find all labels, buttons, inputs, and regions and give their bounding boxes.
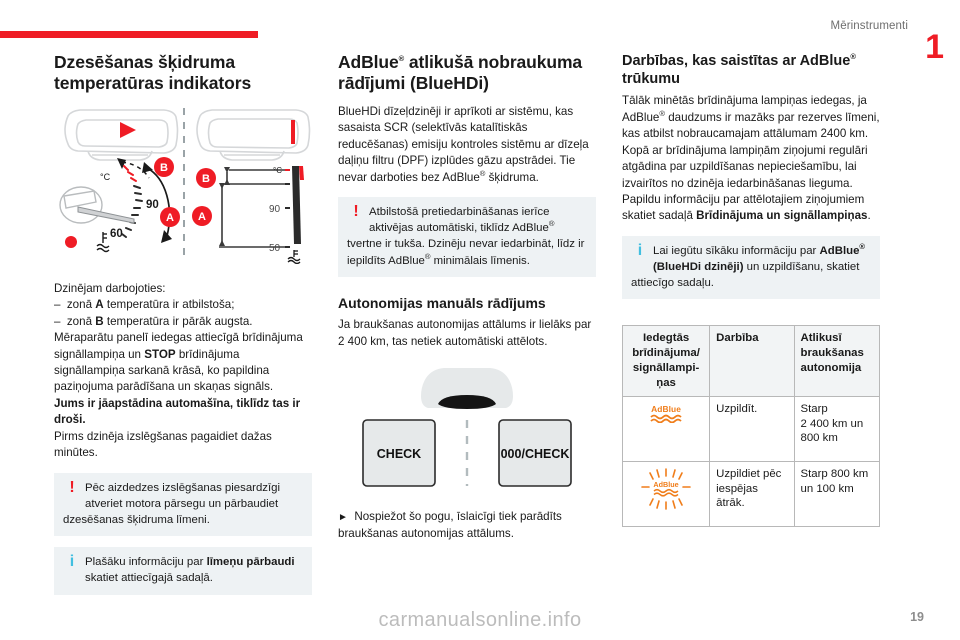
bluehdi-description: BlueHDi dīzeļdzinēji ir aprīkoti ar sist… — [338, 104, 596, 186]
table-cell-action: Uzpildīt. — [710, 396, 794, 461]
svg-text:90: 90 — [146, 199, 159, 211]
svg-text:°C: °C — [273, 166, 282, 175]
wait-minutes-paragraph: Pirms dzinēja izslēgšanas pagaidiet daža… — [54, 429, 312, 462]
svg-text:50: 50 — [269, 243, 281, 254]
table-row: AdBlue Uzpildiet pēc iespējas ātrāk. Sta… — [623, 461, 880, 526]
svg-text:B: B — [202, 173, 210, 185]
svg-text:A: A — [198, 211, 206, 223]
adblue-reserve-paragraph: Tālāk minētās brīdinājuma lampiņas iedeg… — [622, 93, 880, 142]
callout-info-levels: i Plašāku informāciju par līmeņu pārbaud… — [54, 547, 312, 594]
table-cell-autonomy: Starp 800 km un 100 km — [794, 461, 880, 526]
svg-text:90: 90 — [269, 204, 281, 215]
zone-b-bullet: – zonā B temperatūra ir pārāk augsta. — [54, 314, 312, 330]
callout-text: Plašāku informāciju par līmeņu pārbaudi … — [85, 556, 295, 584]
chapter-number: 1 — [925, 30, 944, 64]
table-cell-autonomy: Starp2 400 km un800 km — [794, 396, 880, 461]
table-header-lamps: Iedegtās brīdinājuma/ signāllampi-ņas — [623, 326, 710, 396]
table-row: AdBlue Uzpildīt. Starp2 400 km un800 km — [623, 396, 880, 461]
table-header-autonomy: Atlikusī braukšanas autonomija — [794, 326, 880, 396]
table-cell-action: Uzpildiet pēc iespējas ātrāk. — [710, 461, 794, 526]
page-number: 19 — [910, 610, 924, 624]
information-icon: i — [631, 243, 649, 260]
svg-text:AdBlue: AdBlue — [653, 480, 678, 489]
callout-info-adblue: i Lai iegūtu sīkāku informāciju par AdBl… — [622, 236, 880, 300]
adblue-wave-icon — [649, 414, 683, 423]
svg-text:60: 60 — [110, 228, 123, 240]
adblue-warning-table: Iedegtās brīdinājuma/ signāllampi-ņas Da… — [622, 325, 880, 526]
callout-warning-coolant: ! Pēc aizdedzes izslēgšanas piesardzīgi … — [54, 473, 312, 537]
warning-lamp-paragraph: Mēraparātu panelī iedegas attiecīgā brīd… — [54, 330, 312, 396]
callout-text: Atbilstošā pretiedarbināšanas ierīce akt… — [347, 206, 584, 267]
svg-text:CHECK: CHECK — [377, 447, 421, 461]
header-red-rule — [0, 31, 258, 38]
arrow-right-icon: ► — [338, 512, 348, 523]
callout-text: Lai iegūtu sīkāku informāciju par AdBlue… — [631, 245, 865, 289]
column-two: AdBlue® atlikušā nobraukuma rādījumi (Bl… — [338, 52, 596, 542]
adblue-messages-paragraph: Kopā ar brīdinājuma lampiņām ziņojumi re… — [622, 143, 880, 225]
coolant-temperature-gauge-diagram: °C 90 60 B A — [54, 104, 312, 269]
svg-text:000/CHECK: 000/CHECK — [501, 447, 570, 461]
svg-text:A: A — [166, 212, 174, 224]
site-watermark: carmanualsonline.info — [0, 609, 960, 632]
svg-text:°C: °C — [100, 172, 111, 182]
chapter-label: Mērinstrumenti — [831, 20, 908, 32]
check-button-display-diagram: CHECK 000/CHECK — [338, 364, 596, 499]
adblue-shortage-title: Darbības, kas saistītas ar AdBlue® trūku… — [622, 52, 880, 88]
zone-a-bullet: – zonā A temperatūra ir atbilstoša; — [54, 297, 312, 313]
manual-range-subtitle: Autonomijas manuāls rādījums — [338, 295, 596, 313]
engine-running-intro: Dzinējam darbojoties: — [54, 281, 312, 297]
stop-vehicle-paragraph: Jums ir jāapstādina automašīna, tiklīdz … — [54, 396, 312, 429]
adblue-range-title: AdBlue® atlikušā nobraukuma rādījumi (Bl… — [338, 52, 596, 95]
manual-range-paragraph: Ja braukšanas autonomijas attālums ir li… — [338, 317, 596, 350]
callout-warning-antistart: ! Atbilstošā pretiedarbināšanas ierīce a… — [338, 197, 596, 277]
svg-text:B: B — [160, 162, 168, 174]
press-button-instruction: ► Nospiežot šo pogu, īslaicīgi tiek parā… — [338, 509, 596, 542]
exclamation-icon: ! — [63, 480, 81, 497]
table-header-action: Darbība — [710, 326, 794, 396]
table-header-row: Iedegtās brīdinājuma/ signāllampi-ņas Da… — [623, 326, 880, 396]
adblue-rays-icon: AdBlue — [636, 467, 696, 511]
exclamation-icon: ! — [347, 204, 365, 221]
callout-text: Pēc aizdedzes izslēgšanas piesardzīgi at… — [63, 482, 280, 526]
column-one: Dzesēšanas šķidruma temperatūras indikat… — [54, 52, 312, 595]
adblue-steady-icon: AdBlue — [623, 396, 710, 461]
page-title: Dzesēšanas šķidruma temperatūras indikat… — [54, 52, 312, 95]
information-icon: i — [63, 554, 81, 571]
adblue-flashing-icon: AdBlue — [623, 461, 710, 526]
adblue-icon-label: AdBlue — [651, 404, 681, 414]
column-three: Darbības, kas saistītas ar AdBlue® trūku… — [622, 52, 880, 527]
